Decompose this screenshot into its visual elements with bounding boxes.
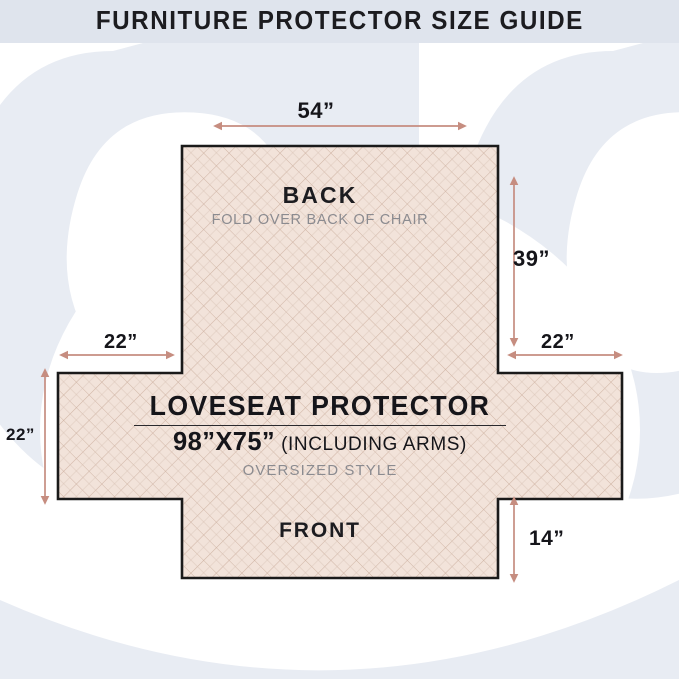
protector-diagram [0,0,679,679]
page-title: FURNITURE PROTECTOR SIZE GUIDE [96,7,584,36]
dimension-label-right-arm-width: 22” [541,331,575,354]
center-info-block: LOVESEAT PROTECTOR 98”X75”(INCLUDING ARM… [0,392,679,479]
front-section-label: FRONT [0,519,679,543]
size-value: 98”X75” [173,428,275,456]
dimension-label-top-width: 54” [298,98,335,124]
size-guide-page: FURNITURE PROTECTOR SIZE GUIDE BACK FOLD… [0,0,679,679]
dimension-label-arm-height: 22” [6,425,35,445]
header-band: FURNITURE PROTECTOR SIZE GUIDE [0,0,679,43]
back-section-label: BACK [0,182,679,209]
dimension-label-back-height: 39” [513,246,550,272]
back-section-sublabel: FOLD OVER BACK OF CHAIR [0,212,679,228]
product-title: LOVESEAT PROTECTOR [0,392,668,420]
size-line: 98”X75”(INCLUDING ARMS) [0,430,679,456]
size-note: (INCLUDING ARMS) [281,434,467,455]
title-divider [134,425,506,427]
dimension-label-left-arm-width: 22” [104,331,138,354]
protector-shape [58,146,622,578]
style-note: OVERSIZED STYLE [0,462,679,479]
dimension-label-front-drop: 14” [529,527,564,551]
